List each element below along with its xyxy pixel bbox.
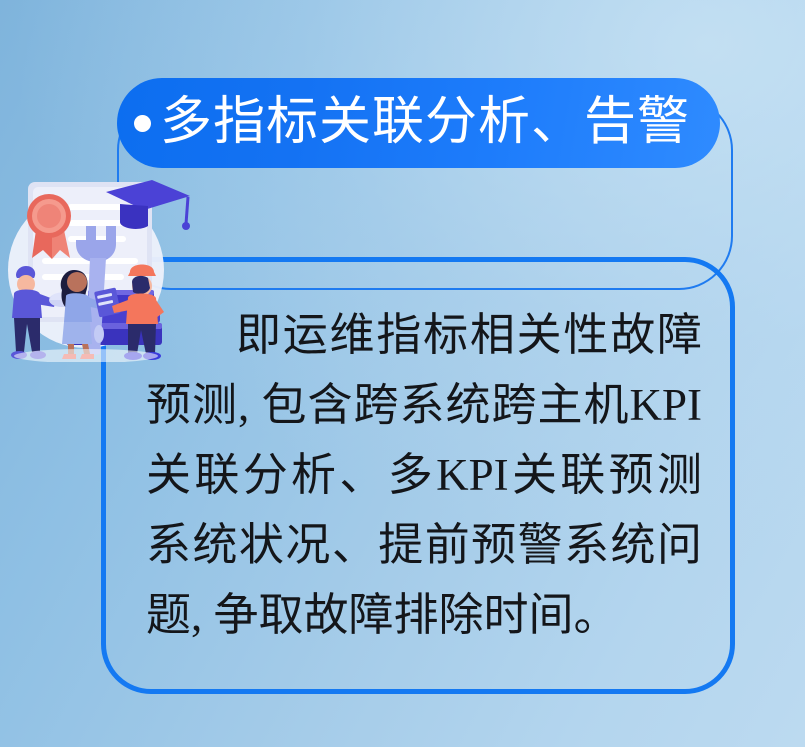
certificate-teamwork-illustration xyxy=(2,166,194,362)
body-paragraph: 即运维指标相关性故障预测, 包含跨系统跨主机KPI关联分析、多KPI关联预测系统… xyxy=(146,300,702,650)
slide-canvas: 多指标关联分析、告警 即运维指标相关性故障预测, 包含跨系统跨主机KPI关联分析… xyxy=(0,0,805,747)
bullet-dot-icon xyxy=(134,115,151,132)
page-title: 多指标关联分析、告警 xyxy=(160,97,690,149)
title-banner: 多指标关联分析、告警 xyxy=(117,78,720,168)
award-rosette-seal xyxy=(27,194,71,259)
